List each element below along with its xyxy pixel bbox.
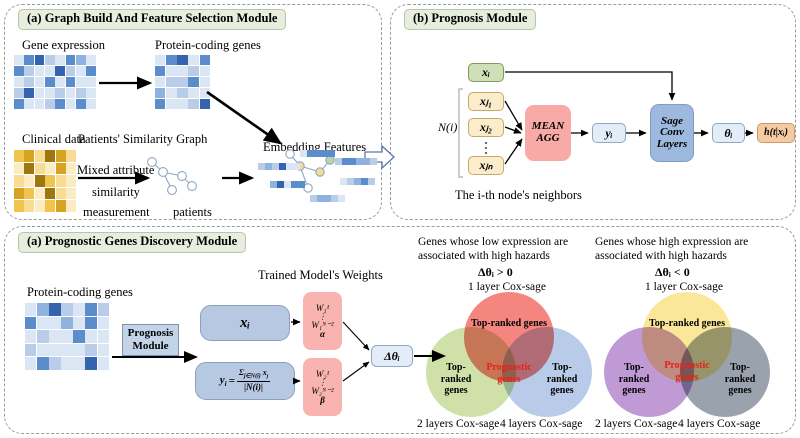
prognosis-module-line1: Prognosis	[128, 327, 174, 340]
heatmap-cell	[14, 66, 24, 76]
heatmap-cell	[76, 99, 86, 109]
embedding-feature-bar	[340, 178, 375, 185]
label-neighborhood: N(i)	[438, 121, 457, 135]
heatmap-cell	[61, 357, 72, 370]
venn-right-set-left-l3: genes	[612, 385, 656, 397]
heatmap-cell	[66, 66, 76, 76]
heatmap-cell	[98, 344, 109, 357]
node-hazard: h(t|xᵢ)	[757, 123, 795, 143]
heatmap-cell	[37, 344, 48, 357]
box-delta-theta: Δθᵢ	[371, 345, 413, 367]
heatmap-cell	[200, 77, 210, 87]
heatmap-cell	[73, 357, 84, 370]
heatmap-cell	[86, 66, 96, 76]
venn-right-set-left-l1: Top-	[612, 362, 656, 374]
node-yi: yᵢ	[592, 123, 626, 143]
venn-left-center-l2: genes	[482, 374, 536, 386]
venn-right-caption-line2: associated with high hazards	[595, 250, 727, 264]
heatmap-cell	[66, 55, 76, 65]
label-clinical-data: Clinical data	[22, 132, 86, 146]
prognosis-module-box: Prognosis Module	[122, 324, 179, 356]
heatmap-cell	[155, 99, 165, 109]
heatmap-cell	[66, 175, 76, 187]
venn-right-bottom-right-label: 4 layers Cox-sage	[678, 418, 760, 432]
heatmap-cell	[35, 175, 45, 187]
label-measurement: measurement	[83, 205, 150, 219]
embedding-feature-cell	[298, 181, 305, 188]
heatmap-protein-coding-genes-c	[25, 303, 109, 370]
venn-left-bottom-right-label: 4 layers Cox-sage	[500, 418, 582, 432]
label-gene-expression: Gene expression	[22, 38, 105, 52]
embedding-feature-cell	[307, 150, 314, 157]
weight-beta-name: β	[320, 396, 325, 405]
heatmap-cell	[200, 88, 210, 98]
embedding-feature-cell	[314, 150, 321, 157]
embedding-feature-bar	[310, 195, 345, 202]
venn-left-set-right-l1: Top-	[540, 362, 584, 374]
box-xi-c-text: xᵢ	[240, 315, 250, 332]
embedding-feature-cell	[321, 150, 328, 157]
node-mean-agg: MEAN AGG	[525, 105, 571, 161]
heatmap-cell	[85, 357, 96, 370]
venn-right-center-l2: genes	[660, 372, 714, 384]
heatmap-cell	[35, 200, 45, 212]
heatmap-cell	[166, 88, 176, 98]
heatmap-cell	[45, 55, 55, 65]
panel-c-title: (a) Prognostic Genes Discovery Module	[18, 232, 246, 253]
heatmap-cell	[56, 175, 66, 187]
heatmap-cell	[66, 163, 76, 175]
heatmap-cell	[56, 163, 66, 175]
heatmap-cell	[66, 188, 76, 200]
embedding-feature-cell	[272, 163, 279, 170]
heatmap-cell	[35, 163, 45, 175]
embedding-feature-cell	[265, 163, 272, 170]
heatmap-cell	[166, 77, 176, 87]
heatmap-cell	[24, 200, 34, 212]
heatmap-cell	[45, 163, 55, 175]
embedding-feature-cell	[342, 158, 349, 165]
venn-right-set-right-l1: Top-	[718, 362, 762, 374]
heatmap-cell	[35, 77, 45, 87]
heatmap-cell	[55, 55, 65, 65]
panel-a-title: (a) Graph Build And Feature Selection Mo…	[18, 9, 286, 30]
embedding-feature-cell	[279, 163, 286, 170]
heatmap-cell	[55, 99, 65, 109]
heatmap-cell	[155, 66, 165, 76]
venn-right-center-l1: Prognostic	[660, 360, 714, 372]
heatmap-cell	[155, 55, 165, 65]
heatmap-cell	[14, 77, 24, 87]
embedding-feature-cell	[354, 178, 361, 185]
venn-left-bottom-left-label: 2 layers Cox-sage	[417, 418, 499, 432]
embedding-feature-cell	[331, 195, 338, 202]
heatmap-cell	[61, 330, 72, 343]
label-neighbors-caption: The i-th node's neighbors	[455, 188, 582, 202]
heatmap-cell	[188, 99, 198, 109]
heatmap-cell	[56, 200, 66, 212]
heatmap-cell	[166, 66, 176, 76]
heatmap-cell	[155, 77, 165, 87]
heatmap-cell	[14, 163, 24, 175]
label-mixed-attribute: Mixed attribute	[77, 163, 154, 177]
heatmap-cell	[177, 55, 187, 65]
heatmap-cell	[14, 188, 24, 200]
weight-alpha-name: α	[320, 330, 325, 339]
heatmap-cell	[55, 88, 65, 98]
heatmap-cell	[66, 99, 76, 109]
heatmap-cell	[166, 55, 176, 65]
embedding-feature-cell	[324, 195, 331, 202]
label-protein-coding-genes-c: Protein-coding genes	[27, 285, 133, 299]
venn-right-bottom-left-label: 2 layers Cox-sage	[595, 418, 677, 432]
heatmap-cell	[35, 66, 45, 76]
heatmap-cell	[45, 175, 55, 187]
heatmap-cell	[56, 188, 66, 200]
venn-left-set-right-l2: ranked	[540, 374, 584, 386]
venn-right-set-right-l2: ranked	[718, 374, 762, 386]
embedding-feature-cell	[293, 163, 300, 170]
heatmap-cell	[188, 88, 198, 98]
heatmap-cell	[200, 55, 210, 65]
heatmap-cell	[66, 150, 76, 162]
node-theta: θᵢ	[712, 123, 745, 143]
venn-right-set-right: Top- ranked genes	[718, 362, 762, 397]
heatmap-cell	[37, 330, 48, 343]
heatmap-cell	[85, 317, 96, 330]
heatmap-cell	[73, 344, 84, 357]
heatmap-cell	[24, 66, 34, 76]
box-yi-formula: yi = Σj∈N(i) xj |N(i)|	[195, 362, 295, 400]
embedding-feature-cell	[340, 178, 347, 185]
heatmap-cell	[24, 99, 34, 109]
heatmap-cell	[155, 88, 165, 98]
heatmap-cell	[35, 99, 45, 109]
heatmap-cell	[49, 330, 60, 343]
embedding-feature-cell	[291, 181, 298, 188]
heatmap-cell	[25, 344, 36, 357]
node-xj1: xⱼ₁	[468, 92, 504, 111]
sage-line3: Layers	[657, 139, 688, 151]
node-xi: xᵢ	[468, 63, 504, 82]
venn-left-set-left: Top- ranked genes	[434, 362, 478, 397]
heatmap-cell	[76, 55, 86, 65]
embedding-feature-cell	[270, 181, 277, 188]
heatmap-cell	[25, 357, 36, 370]
venn-diagram-left: Top-ranked genes Top- ranked genes Progn…	[424, 292, 592, 417]
heatmap-cell	[35, 88, 45, 98]
heatmap-protein-coding-genes	[155, 55, 210, 109]
venn-right-set-right-l3: genes	[718, 385, 762, 397]
embedding-feature-cell	[370, 158, 377, 165]
embedding-feature-cell	[300, 150, 307, 157]
heatmap-cell	[98, 330, 109, 343]
embedding-feature-bar	[270, 181, 305, 188]
heatmap-cell	[24, 188, 34, 200]
embedding-feature-cell	[349, 158, 356, 165]
embedding-feature-bar	[258, 163, 300, 170]
heatmap-cell	[177, 88, 187, 98]
heatmap-cell	[24, 150, 34, 162]
heatmap-cell	[14, 175, 24, 187]
heatmap-cell	[49, 303, 60, 316]
label-patients: patients	[173, 205, 212, 219]
heatmap-cell	[24, 163, 34, 175]
venn-right-center: Prognostic genes	[660, 360, 714, 383]
venn-left-set-right-l3: genes	[540, 385, 584, 397]
venn-left-set-left-l3: genes	[434, 385, 478, 397]
heatmap-cell	[14, 200, 24, 212]
heatmap-cell	[98, 303, 109, 316]
heatmap-cell	[49, 344, 60, 357]
embedding-feature-cell	[286, 163, 293, 170]
heatmap-cell	[86, 88, 96, 98]
venn-right-set-left-l2: ranked	[612, 374, 656, 386]
embedding-feature-cell	[277, 181, 284, 188]
embedding-feature-cell	[317, 195, 324, 202]
heatmap-cell	[66, 200, 76, 212]
heatmap-cell	[76, 77, 86, 87]
prognosis-module-line2: Module	[132, 340, 168, 353]
panel-b-title: (b) Prognosis Module	[404, 9, 536, 30]
heatmap-cell	[98, 357, 109, 370]
heatmap-cell	[76, 66, 86, 76]
embedding-feature-cell	[356, 158, 363, 165]
heatmap-cell	[200, 66, 210, 76]
venn-left-set-top: Top-ranked genes	[462, 318, 556, 330]
embedding-feature-cell	[347, 178, 354, 185]
embedding-feature-cell	[335, 158, 342, 165]
heatmap-cell	[177, 77, 187, 87]
heatmap-cell	[188, 77, 198, 87]
heatmap-cell	[86, 55, 96, 65]
heatmap-cell	[24, 55, 34, 65]
venn-left-caption-line1: Genes whose low expression are	[418, 236, 568, 250]
venn-diagram-right: Top-ranked genes Top- ranked genes Progn…	[602, 292, 770, 417]
embedding-feature-cell	[310, 195, 317, 202]
venn-left-caption-line2: associated with high hazards	[418, 250, 550, 264]
heatmap-cell	[73, 317, 84, 330]
label-trained-model-weights: Trained Model's Weights	[258, 268, 383, 282]
embedding-feature-cell	[361, 178, 368, 185]
heatmap-cell	[45, 200, 55, 212]
heatmap-cell	[14, 88, 24, 98]
heatmap-cell	[35, 150, 45, 162]
heatmap-cell	[24, 88, 34, 98]
embedding-feature-cell	[338, 195, 345, 202]
heatmap-cell	[56, 150, 66, 162]
heatmap-cell	[66, 88, 76, 98]
heatmap-cell	[188, 55, 198, 65]
heatmap-cell	[35, 55, 45, 65]
heatmap-cell	[76, 88, 86, 98]
venn-left-center: Prognostic genes	[482, 362, 536, 385]
heatmap-cell	[98, 317, 109, 330]
heatmap-cell	[37, 303, 48, 316]
embedding-feature-bar	[335, 158, 377, 165]
heatmap-cell	[73, 303, 84, 316]
weights-box-beta: W₂¹ ⋮ W₂ᴺ⁻² β	[303, 358, 342, 416]
heatmap-cell	[35, 188, 45, 200]
heatmap-cell	[55, 77, 65, 87]
heatmap-cell	[37, 317, 48, 330]
label-patients-similarity-graph: Patients' Similarity Graph	[78, 132, 207, 146]
heatmap-cell	[25, 330, 36, 343]
heatmap-cell	[24, 77, 34, 87]
embedding-feature-cell	[328, 150, 335, 157]
mean-agg-line2: AGG	[536, 133, 559, 145]
panel-prognosis-module	[390, 4, 796, 220]
heatmap-cell	[61, 344, 72, 357]
heatmap-cell	[45, 150, 55, 162]
label-protein-coding-genes: Protein-coding genes	[155, 38, 261, 52]
embedding-feature-cell	[363, 158, 370, 165]
heatmap-cell	[14, 99, 24, 109]
heatmap-cell	[49, 317, 60, 330]
heatmap-gene-expression	[14, 55, 96, 109]
label-similarity: similarity	[92, 185, 140, 199]
embedding-feature-cell	[284, 181, 291, 188]
heatmap-cell	[25, 317, 36, 330]
heatmap-cell	[14, 150, 24, 162]
weights-box-alpha: W₁¹ ⋮ W₁ᴺ⁻² α	[303, 292, 342, 350]
heatmap-cell	[37, 357, 48, 370]
heatmap-cell	[85, 344, 96, 357]
embedding-feature-cell	[258, 163, 265, 170]
heatmap-cell	[45, 188, 55, 200]
heatmap-cell	[177, 66, 187, 76]
heatmap-cell	[73, 330, 84, 343]
heatmap-cell	[45, 77, 55, 87]
heatmap-cell	[49, 357, 60, 370]
node-xjN: xⱼₙ	[468, 156, 504, 175]
heatmap-cell	[85, 330, 96, 343]
venn-left-set-left-l2: ranked	[434, 374, 478, 386]
embedding-feature-bar	[300, 150, 335, 157]
heatmap-cell	[85, 303, 96, 316]
heatmap-cell	[45, 88, 55, 98]
heatmap-cell	[45, 66, 55, 76]
heatmap-cell	[55, 66, 65, 76]
heatmap-cell	[86, 77, 96, 87]
venn-left-center-l1: Prognostic	[482, 362, 536, 374]
venn-left-set-right: Top- ranked genes	[540, 362, 584, 397]
heatmap-cell	[61, 303, 72, 316]
node-sage-conv-layers: Sage Conv Layers	[650, 104, 694, 162]
heatmap-cell	[61, 317, 72, 330]
heatmap-cell	[200, 99, 210, 109]
box-xi-c: xᵢ	[200, 305, 290, 341]
embedding-feature-cell	[368, 178, 375, 185]
heatmap-cell	[188, 66, 198, 76]
venn-left-set-left-l1: Top-	[434, 362, 478, 374]
heatmap-cell	[25, 303, 36, 316]
heatmap-cell	[14, 55, 24, 65]
heatmap-cell	[166, 99, 176, 109]
node-xj2: xⱼ₂	[468, 118, 504, 137]
venn-left-condition: Δθᵢ > 0	[478, 265, 513, 279]
venn-right-set-top: Top-ranked genes	[640, 318, 734, 330]
heatmap-clinical-data	[14, 150, 76, 212]
heatmap-cell	[45, 99, 55, 109]
venn-right-set-left: Top- ranked genes	[612, 362, 656, 397]
heatmap-cell	[86, 99, 96, 109]
heatmap-cell	[24, 175, 34, 187]
venn-right-caption-line1: Genes whose high expression are	[595, 236, 748, 250]
heatmap-cell	[66, 77, 76, 87]
heatmap-cell	[177, 99, 187, 109]
venn-right-condition: Δθᵢ < 0	[655, 265, 690, 279]
